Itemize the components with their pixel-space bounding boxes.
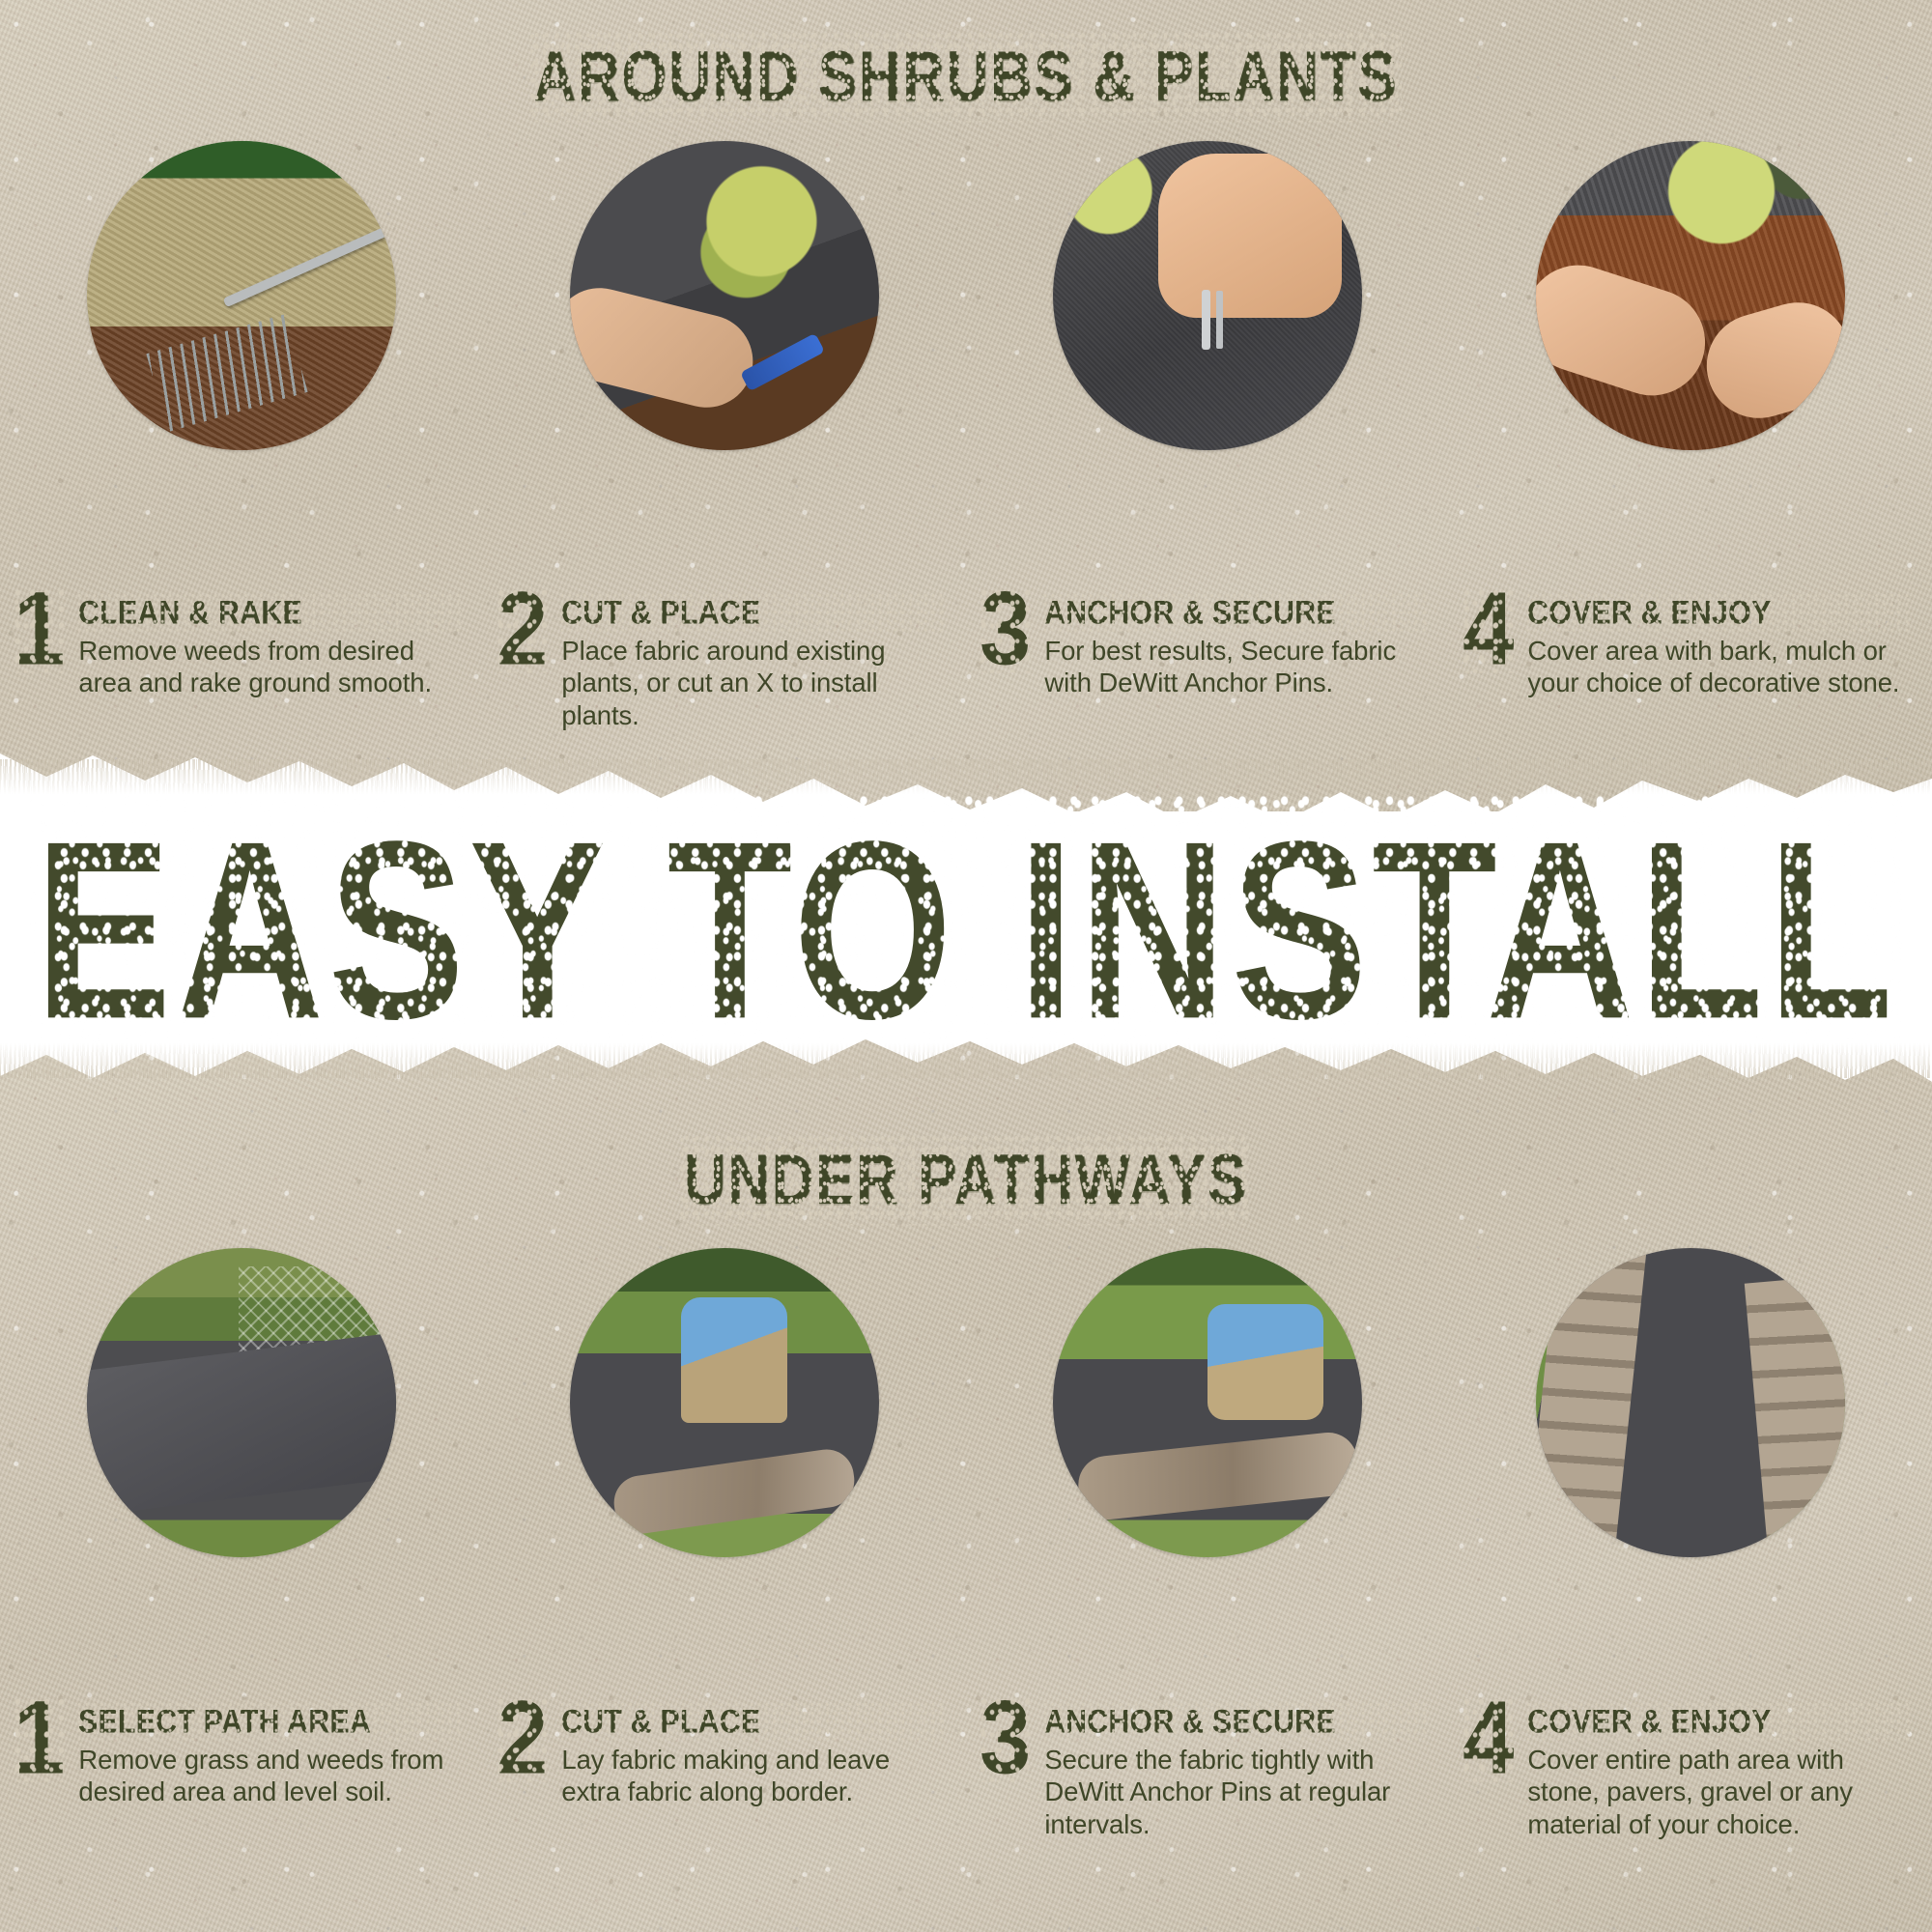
- photo-cell: [966, 1248, 1449, 1557]
- photo-cell: [1449, 1248, 1932, 1557]
- step-text: Lay fabric making and leave extra fabric…: [561, 1744, 951, 1808]
- hand-placing-anchor-pin-photo: [1053, 141, 1362, 450]
- section-title-shrubs-text: AROUND SHRUBS & PLANTS: [534, 37, 1399, 118]
- step-title: CUT & PLACE: [561, 593, 943, 632]
- step-number: 2: [497, 1696, 548, 1781]
- photo-cell: [483, 1248, 966, 1557]
- step-text: Place fabric around existing plants, or …: [561, 635, 951, 731]
- step-text: For best results, Secure fabric with DeW…: [1044, 635, 1434, 699]
- photo-cell: [966, 141, 1449, 450]
- step-title: SELECT PATH AREA: [78, 1702, 460, 1741]
- photo-cell: [1449, 141, 1932, 450]
- step-number: 1: [14, 587, 65, 672]
- step-title: COVER & ENJOY: [1527, 1702, 1909, 1741]
- step-title: COVER & ENJOY: [1527, 593, 1909, 632]
- section-title-pathways: UNDER PATHWAYS: [29, 1140, 1903, 1221]
- two-workers-securing-fabric-photo: [1053, 1248, 1362, 1557]
- cutting-fabric-around-shrub-photo: [570, 141, 879, 450]
- photo-row-pathways: [0, 1248, 1932, 1557]
- step-title: ANCHOR & SECURE: [1044, 1702, 1426, 1741]
- step-card-pathways-1: 1 SELECT PATH AREA Remove grass and weed…: [0, 1702, 483, 1840]
- step-card-pathways-4: 4 COVER & ENJOY Cover entire path area w…: [1449, 1702, 1932, 1840]
- step-title: ANCHOR & SECURE: [1044, 593, 1426, 632]
- step-text: Remove weeds from desired area and rake …: [78, 635, 468, 699]
- step-text: Cover entire path area with stone, paver…: [1527, 1744, 1917, 1840]
- step-card-shrubs-2: 2 CUT & PLACE Place fabric around existi…: [483, 593, 966, 731]
- step-number: 4: [1463, 587, 1514, 672]
- step-number: 1: [14, 1696, 65, 1781]
- worker-laying-stones-photo: [570, 1248, 879, 1557]
- finished-stone-path-photo: [1536, 1248, 1845, 1557]
- step-text: Cover area with bark, mulch or your choi…: [1527, 635, 1917, 699]
- step-number: 3: [980, 587, 1031, 672]
- section-title-pathways-text: UNDER PATHWAYS: [684, 1140, 1248, 1221]
- photo-cell: [0, 1248, 483, 1557]
- step-card-pathways-3: 3 ANCHOR & SECURE Secure the fabric tigh…: [966, 1702, 1449, 1840]
- photo-row-shrubs: [0, 141, 1932, 450]
- step-number: 3: [980, 1696, 1031, 1781]
- step-text: Secure the fabric tightly with DeWitt An…: [1044, 1744, 1434, 1840]
- step-card-shrubs-1: 1 CLEAN & RAKE Remove weeds from desired…: [0, 593, 483, 731]
- step-card-shrubs-4: 4 COVER & ENJOY Cover area with bark, mu…: [1449, 593, 1932, 731]
- step-number: 4: [1463, 1696, 1514, 1781]
- photo-cell: [0, 141, 483, 450]
- step-title: CUT & PLACE: [561, 1702, 943, 1741]
- caption-row-pathways: 1 SELECT PATH AREA Remove grass and weed…: [0, 1702, 1932, 1840]
- step-title: CLEAN & RAKE: [78, 593, 460, 632]
- hero-headline: EASY TO INSTALL: [35, 803, 1897, 1056]
- photo-cell: [483, 141, 966, 450]
- rake-on-mulch-photo: [87, 141, 396, 450]
- section-title-shrubs: AROUND SHRUBS & PLANTS: [29, 37, 1903, 118]
- step-number: 2: [497, 587, 548, 672]
- step-text: Remove grass and weeds from desired area…: [78, 1744, 468, 1808]
- hands-spreading-mulch-photo: [1536, 141, 1845, 450]
- step-card-shrubs-3: 3 ANCHOR & SECURE For best results, Secu…: [966, 593, 1449, 731]
- step-card-pathways-2: 2 CUT & PLACE Lay fabric making and leav…: [483, 1702, 966, 1840]
- caption-row-shrubs: 1 CLEAN & RAKE Remove weeds from desired…: [0, 593, 1932, 731]
- fabric-roll-by-fence-photo: [87, 1248, 396, 1557]
- hero-banner: EASY TO INSTALL: [0, 826, 1932, 1034]
